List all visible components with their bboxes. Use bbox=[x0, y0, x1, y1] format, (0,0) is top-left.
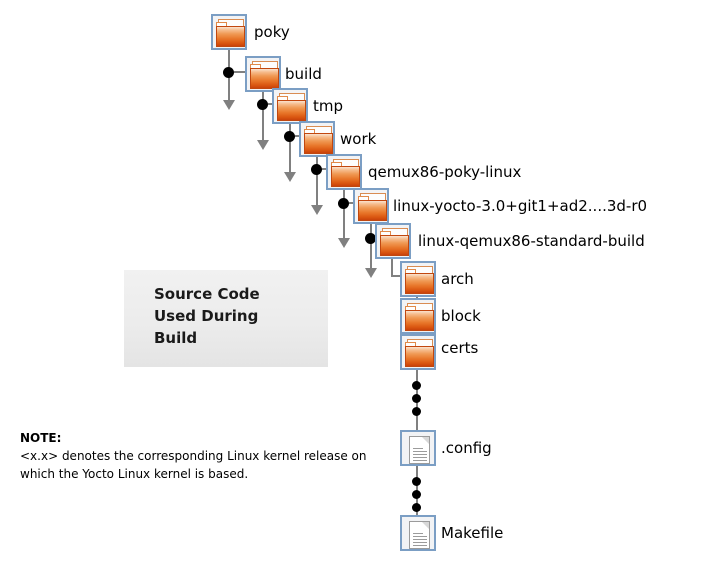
folder-icon-arch[interactable] bbox=[400, 261, 436, 297]
folder-icon-linux-qemux86-standard-build[interactable] bbox=[375, 223, 411, 259]
ellipsis-dot bbox=[412, 407, 421, 416]
ellipsis-dot bbox=[412, 394, 421, 403]
junction-dot-work bbox=[311, 164, 322, 175]
folder-icon-certs[interactable] bbox=[400, 334, 436, 370]
node-label-linux-qemux86-standard-build: linux-qemux86-standard-build bbox=[418, 234, 645, 249]
note-body: <x.x> denotes the corresponding Linux ke… bbox=[20, 447, 380, 483]
arrow-tmp bbox=[284, 172, 296, 182]
node-label-makefile: Makefile bbox=[441, 526, 503, 541]
directory-tree-diagram: poky build tmp work qemux86-poky-linux l… bbox=[0, 0, 705, 581]
junction-dot-build bbox=[257, 99, 268, 110]
arrow-linux-yocto bbox=[365, 268, 377, 278]
arrow-poky bbox=[223, 100, 235, 110]
note-title: NOTE: bbox=[20, 430, 380, 447]
junction-dot-poky bbox=[223, 67, 234, 78]
junction-dot-tmp bbox=[284, 131, 295, 142]
arrow-build bbox=[257, 140, 269, 150]
ellipsis-dot bbox=[412, 503, 421, 512]
junction-dot-qemux86 bbox=[338, 198, 349, 209]
document-icon-config[interactable] bbox=[400, 430, 436, 466]
folder-icon-work[interactable] bbox=[299, 121, 335, 157]
node-label-work: work bbox=[340, 132, 376, 147]
node-label-certs: certs bbox=[441, 341, 478, 356]
arrow-qemux86 bbox=[338, 238, 350, 248]
node-label-tmp: tmp bbox=[313, 99, 343, 114]
node-label-arch: arch bbox=[441, 272, 474, 287]
node-label-linux-yocto: linux-yocto-3.0+git1+ad2....3d-r0 bbox=[393, 199, 647, 214]
ellipsis-dot bbox=[412, 490, 421, 499]
source-code-callout-box: Source Code Used During Build bbox=[124, 270, 328, 367]
source-code-callout-text: Source Code Used During Build bbox=[154, 284, 260, 349]
ellipsis-dot bbox=[412, 381, 421, 390]
note-block: NOTE: <x.x> denotes the corresponding Li… bbox=[20, 430, 380, 483]
folder-icon-poky[interactable] bbox=[211, 14, 247, 50]
document-icon-makefile[interactable] bbox=[400, 515, 436, 551]
node-label-block: block bbox=[441, 309, 481, 324]
folder-icon-build[interactable] bbox=[245, 56, 281, 92]
node-label-poky: poky bbox=[254, 25, 290, 40]
folder-icon-block[interactable] bbox=[400, 298, 436, 334]
node-label-qemux86-poky-linux: qemux86-poky-linux bbox=[368, 165, 521, 180]
node-label-build: build bbox=[285, 67, 322, 82]
ellipsis-dot bbox=[412, 477, 421, 486]
arrow-work bbox=[311, 205, 323, 215]
folder-icon-linux-yocto[interactable] bbox=[353, 188, 389, 224]
folder-icon-tmp[interactable] bbox=[272, 88, 308, 124]
folder-icon-qemux86-poky-linux[interactable] bbox=[326, 154, 362, 190]
node-label-config: .config bbox=[441, 441, 492, 456]
